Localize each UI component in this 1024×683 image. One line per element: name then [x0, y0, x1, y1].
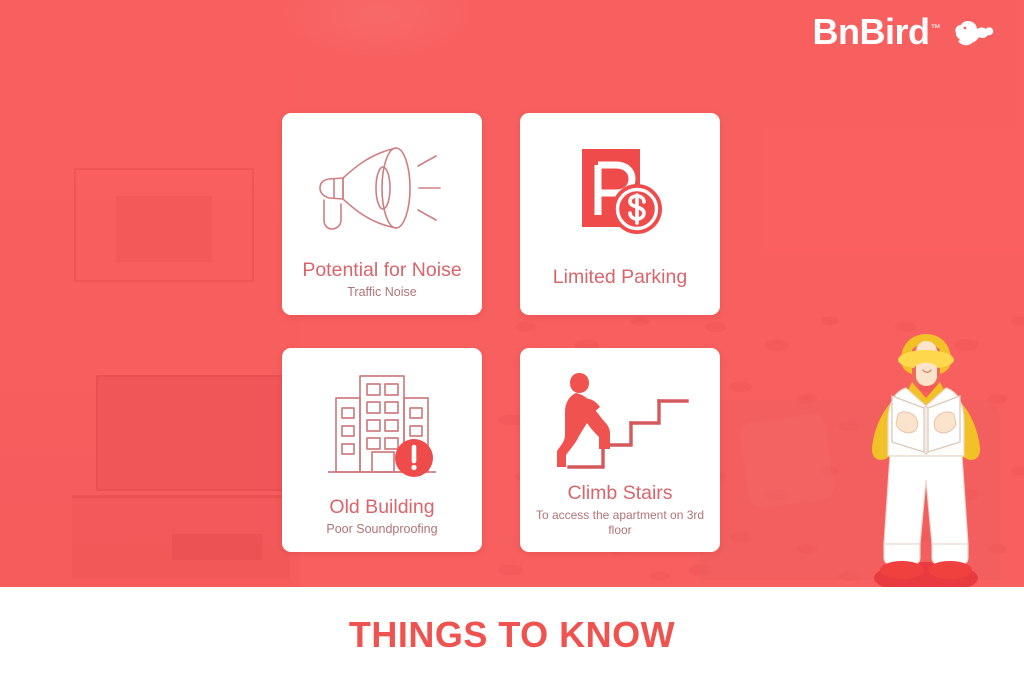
things-to-know-grid: Potential for Noise Traffic Noise: [282, 113, 720, 552]
footer-bar: THINGS TO KNOW: [0, 587, 1024, 683]
trademark-symbol: ™: [931, 23, 941, 34]
character-sole-right: [928, 561, 972, 579]
card-icon-wrap: [292, 121, 472, 259]
card-text-wrap: Potential for Noise Traffic Noise: [292, 259, 472, 305]
card-subtitle: To access the apartment on 3rd floor: [530, 508, 710, 538]
card-icon-wrap: [530, 356, 710, 482]
card-icon-wrap: [530, 121, 710, 266]
climb-stairs-icon: [549, 363, 691, 475]
megaphone-icon: [307, 138, 457, 242]
card-title: Climb Stairs: [530, 482, 710, 505]
card-limited-parking[interactable]: Limited Parking: [520, 113, 720, 315]
brand-wordmark: BnBird™: [813, 14, 941, 50]
card-climb-stairs[interactable]: Climb Stairs To access the apartment on …: [520, 348, 720, 552]
card-icon-wrap: [292, 356, 472, 496]
brand-logo[interactable]: BnBird™: [813, 14, 995, 50]
card-text-wrap: Old Building Poor Soundproofing: [292, 496, 472, 542]
character-sole-left: [880, 561, 924, 579]
card-title: Limited Parking: [530, 266, 710, 289]
card-subtitle: Poor Soundproofing: [292, 522, 472, 538]
character-trousers: [884, 456, 968, 544]
woman-reading-book-illustration: [846, 330, 1006, 587]
card-text-wrap: Climb Stairs To access the apartment on …: [530, 482, 710, 542]
footer-title: THINGS TO KNOW: [349, 614, 675, 656]
hero-section: BnBird™: [0, 0, 1024, 587]
book-spine: [924, 406, 928, 454]
card-potential-for-noise[interactable]: Potential for Noise Traffic Noise: [282, 113, 482, 315]
card-title: Old Building: [292, 496, 472, 519]
brand-name-text: BnBird: [813, 11, 930, 52]
card-old-building[interactable]: Old Building Poor Soundproofing: [282, 348, 482, 552]
card-text-wrap: Limited Parking: [530, 266, 710, 305]
bird-icon: [950, 17, 994, 47]
parking-fee-icon: [572, 145, 668, 241]
card-title: Potential for Noise: [292, 259, 472, 282]
old-building-alert-icon: [322, 370, 442, 482]
infographic-page: BnBird™: [0, 0, 1024, 683]
card-subtitle: Traffic Noise: [292, 285, 472, 301]
